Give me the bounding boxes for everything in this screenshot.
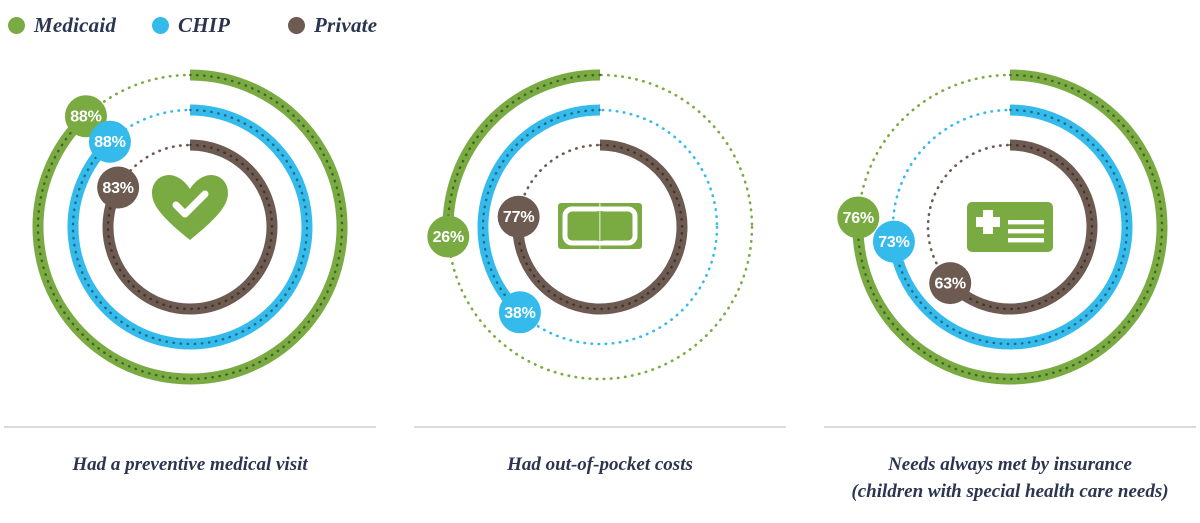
caption-line: Had out-of-pocket costs: [410, 451, 790, 478]
badge-label-private: 77%: [503, 209, 534, 226]
legend-label-chip: CHIP: [178, 13, 230, 38]
chart-panel-out-of-pocket: 26%38%77%Had out-of-pocket costs: [410, 48, 790, 523]
badge-label-chip: 38%: [504, 305, 535, 322]
badge-label-private: 83%: [102, 180, 133, 197]
caption-text: Had a preventive medical visit: [0, 428, 380, 478]
caption-preventive-visit: Had a preventive medical visit: [0, 426, 380, 478]
value-badge-chip[interactable]: 88%: [89, 121, 131, 163]
badge-label-private: 63%: [935, 276, 966, 293]
ring-chart-out-of-pocket: 26%38%77%: [410, 48, 790, 428]
legend-swatch-private-icon: [288, 17, 305, 34]
card-line-3: [1008, 238, 1044, 242]
chart-panel-needs-met: 76%73%63%Needs always met by insurance(c…: [820, 48, 1200, 523]
caption-out-of-pocket: Had out-of-pocket costs: [410, 426, 790, 478]
bill-dot-2: [621, 223, 626, 228]
legend-item-private: Private: [288, 8, 377, 42]
legend-swatch-chip-icon: [152, 17, 169, 34]
caption-line: Needs always met by insurance: [820, 451, 1200, 478]
value-badge-chip[interactable]: 38%: [499, 291, 541, 333]
ring-chart-needs-met: 76%73%63%: [820, 48, 1200, 428]
value-badge-medicaid[interactable]: 76%: [837, 196, 879, 238]
bill-dot-1: [573, 223, 578, 228]
caption-line: (children with special health care needs…: [820, 478, 1200, 505]
legend-item-medicaid: Medicaid: [8, 8, 116, 42]
caption-text: Had out-of-pocket costs: [410, 428, 790, 478]
badge-label-chip: 88%: [94, 134, 125, 151]
heart-check-icon: [152, 175, 228, 240]
legend-swatch-medicaid-icon: [8, 17, 25, 34]
insurance-card-icon: [967, 202, 1053, 252]
legend-label-private: Private: [314, 13, 377, 38]
badge-label-chip: 73%: [878, 234, 909, 251]
card-line-2: [1008, 229, 1044, 233]
value-badge-chip[interactable]: 73%: [873, 221, 915, 263]
money-bill-icon: [558, 203, 642, 249]
badge-label-medicaid: 26%: [433, 229, 464, 246]
legend-item-chip: CHIP: [152, 8, 230, 42]
card-line-1: [1008, 220, 1044, 224]
caption-needs-met: Needs always met by insurance(children w…: [820, 426, 1200, 505]
value-badge-medicaid[interactable]: 26%: [427, 216, 469, 258]
badge-label-medicaid: 76%: [843, 210, 874, 227]
bill-seam: [599, 203, 601, 249]
legend-label-medicaid: Medicaid: [34, 13, 116, 38]
caption-text: Needs always met by insurance(children w…: [820, 428, 1200, 505]
value-badge-private[interactable]: 83%: [97, 167, 139, 209]
chart-panel-preventive-visit: 88%88%83%Had a preventive medical visit: [0, 48, 380, 523]
badge-label-medicaid: 88%: [70, 109, 101, 126]
chart-panels: 88%88%83%Had a preventive medical visit2…: [0, 48, 1200, 523]
caption-line: Had a preventive medical visit: [0, 451, 380, 478]
ring-chart-preventive-visit: 88%88%83%: [0, 48, 380, 428]
value-badge-private[interactable]: 77%: [498, 196, 540, 238]
value-badge-private[interactable]: 63%: [929, 262, 971, 304]
